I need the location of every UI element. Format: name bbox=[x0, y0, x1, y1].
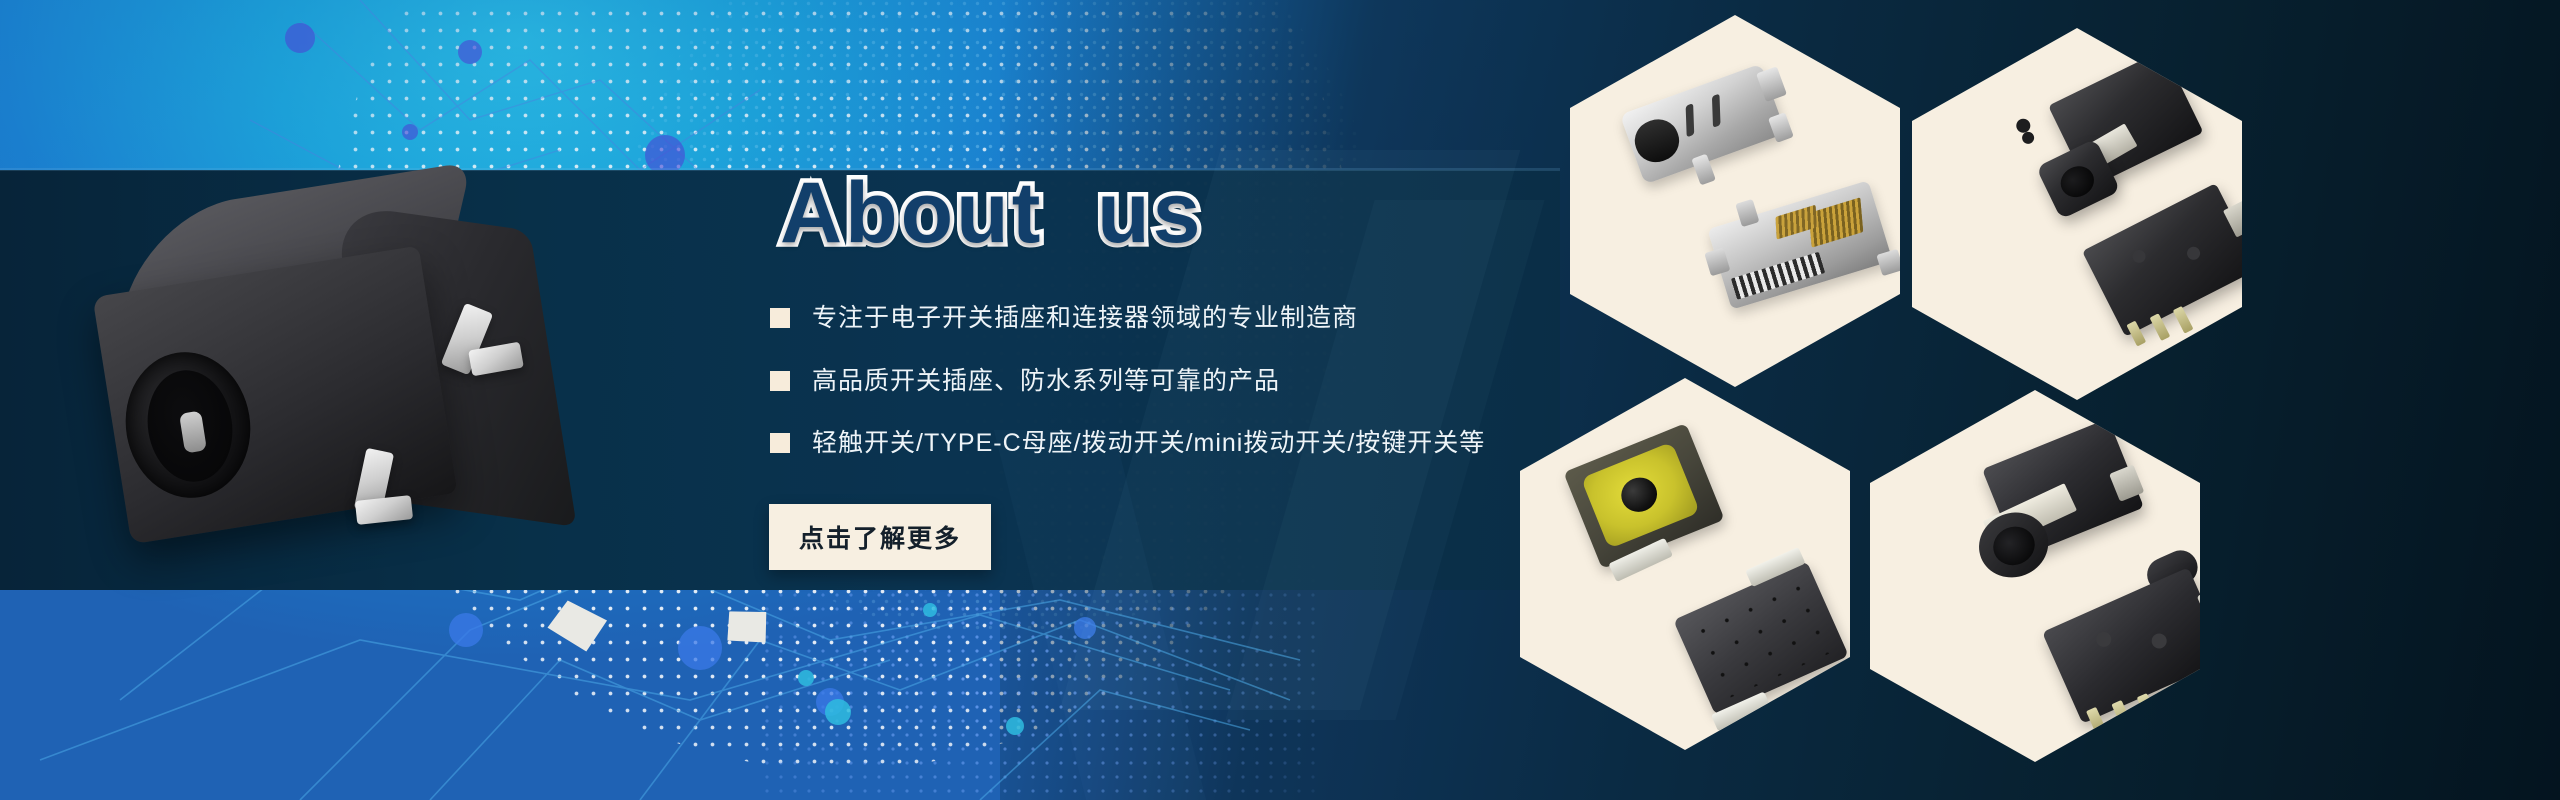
list-item: 轻触开关/TYPE-C母座/拨动开关/mini拨动开关/按键开关等 bbox=[770, 427, 1530, 460]
bullet-text: 轻触开关/TYPE-C母座/拨动开关/mini拨动开关/按键开关等 bbox=[812, 427, 1485, 460]
list-item: 高品质开关插座、防水系列等可靠的产品 bbox=[770, 365, 1530, 398]
tactile-switch-yellow bbox=[1563, 423, 1724, 569]
about-us-banner: About us 专注于电子开关插座和连接器领域的专业制造商 高品质开关插座、防… bbox=[0, 0, 2560, 800]
audio-jack-rear bbox=[2036, 548, 2200, 742]
square-bullet-icon bbox=[770, 371, 790, 391]
banner-copy-block: About us 专注于电子开关插座和连接器领域的专业制造商 高品质开关插座、防… bbox=[770, 170, 1530, 570]
square-bullet-icon bbox=[770, 433, 790, 453]
tactile-switch-black bbox=[1673, 561, 1849, 715]
feature-product-image-dc-power-jack bbox=[60, 120, 680, 640]
feature-bullet-list: 专注于电子开关插座和连接器领域的专业制造商 高品质开关插座、防水系列等可靠的产品… bbox=[770, 302, 1530, 460]
bullet-text: 高品质开关插座、防水系列等可靠的产品 bbox=[812, 365, 1280, 398]
list-item: 专注于电子开关插座和连接器领域的专业制造商 bbox=[770, 302, 1530, 335]
audio-jack-front bbox=[1950, 418, 2151, 589]
bullet-text: 专注于电子开关插座和连接器领域的专业制造商 bbox=[812, 302, 1358, 335]
usb-type-c-receptacle-top bbox=[1620, 64, 1786, 185]
hex-dc-power-jack[interactable] bbox=[1912, 28, 2242, 400]
square-bullet-icon bbox=[770, 308, 790, 328]
learn-more-button[interactable]: 点击了解更多 bbox=[769, 504, 991, 570]
page-title: About us bbox=[780, 170, 1530, 256]
product-hexagon-cluster bbox=[1540, 0, 2560, 800]
hex-usb-type-c[interactable] bbox=[1570, 15, 1900, 387]
jack-solder-lead bbox=[355, 495, 413, 525]
hex-audio-jack[interactable] bbox=[1870, 390, 2200, 762]
usb-type-c-receptacle-bottom bbox=[1707, 180, 1892, 309]
hex-tactile-switch[interactable] bbox=[1520, 378, 1850, 750]
